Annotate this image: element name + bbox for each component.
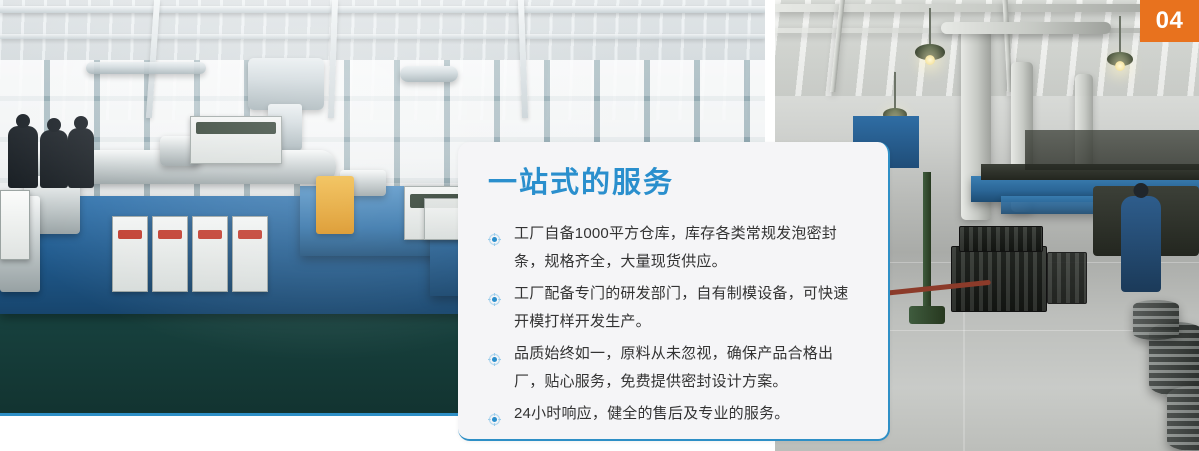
list-item: 工厂配备专门的研发部门，自有制模设备，可快速开模打样开发生产。	[488, 280, 860, 336]
roof-beam	[0, 6, 765, 13]
list-item-text: 品质始终如一，原料从未忽视，确保产品合格出厂，贴心服务，免费提供密封设计方案。	[514, 345, 833, 390]
list-item: 24小时响应，健全的售后及专业的服务。	[488, 400, 860, 428]
machine-shadow	[1025, 130, 1199, 170]
ventilation-duct	[400, 66, 458, 82]
service-bullet-list: 工厂自备1000平方仓库，库存各类常规发泡密封条，规格齐全，大量现货供应。 工厂…	[488, 220, 860, 428]
support-pole	[923, 172, 931, 322]
list-item-text: 工厂自备1000平方仓库，库存各类常规发泡密封条，规格齐全，大量现货供应。	[514, 225, 837, 270]
storage-crate	[1047, 252, 1087, 304]
step-number-label: 04	[1156, 9, 1184, 33]
worker-figure	[40, 130, 68, 188]
storage-crate	[959, 226, 1043, 252]
electrical-cabinet	[0, 190, 30, 260]
pole-base	[909, 306, 945, 324]
safety-guard	[316, 176, 354, 234]
temperature-readout	[118, 230, 142, 239]
ventilation-duct	[86, 62, 206, 74]
controller-module	[152, 216, 188, 292]
display-screen	[196, 122, 276, 134]
controller-module	[192, 216, 228, 292]
temperature-readout	[158, 230, 182, 239]
list-item-text: 工厂配备专门的研发部门，自有制模设备，可快速开模打样开发生产。	[514, 285, 848, 330]
service-info-card: 一站式的服务 工厂自备1000平方仓库，库存各类常规发泡密封条，规格齐全，大量现…	[458, 142, 890, 441]
worker-figure	[68, 128, 94, 188]
card-title: 一站式的服务	[488, 168, 860, 200]
metal-coil	[1167, 386, 1199, 451]
temperature-readout	[238, 230, 262, 239]
temperature-readout	[198, 230, 222, 239]
worker-figure	[1121, 196, 1161, 292]
target-marker-icon	[488, 228, 501, 241]
pendant-lamp	[1107, 52, 1133, 66]
storage-crate	[951, 246, 1047, 312]
ventilation-duct	[248, 58, 324, 110]
banner-section: 04 一站式的服务 工厂自备1000平方仓库，库存各类常规发泡密封条，规格齐全，…	[0, 0, 1199, 451]
controller-module	[112, 216, 148, 292]
metal-coil	[1133, 300, 1179, 340]
step-number-badge: 04	[1140, 0, 1199, 42]
pendant-lamp	[915, 44, 945, 60]
list-item-text: 24小时响应，健全的售后及专业的服务。	[514, 405, 790, 422]
roof-beam	[0, 34, 765, 39]
target-marker-icon	[488, 408, 501, 421]
worker-figure	[8, 126, 38, 188]
duct-header	[941, 22, 1111, 34]
list-item: 品质始终如一，原料从未忽视，确保产品合格出厂，贴心服务，免费提供密封设计方案。	[488, 340, 860, 396]
list-item: 工厂自备1000平方仓库，库存各类常规发泡密封条，规格齐全，大量现货供应。	[488, 220, 860, 276]
target-marker-icon	[488, 348, 501, 361]
target-marker-icon	[488, 288, 501, 301]
controller-module	[232, 216, 268, 292]
